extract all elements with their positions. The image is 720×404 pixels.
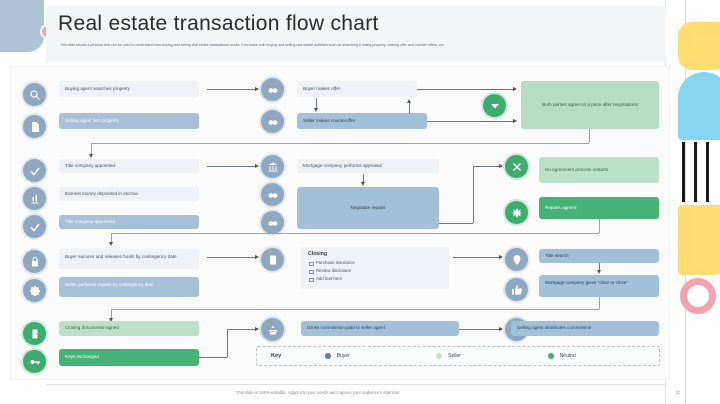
key-item-neutral: Neutral (548, 353, 659, 359)
box-both-parties-agree[interactable]: Both parties agree on a price after nego… (521, 81, 659, 129)
handshake-icon (261, 183, 284, 206)
decor-bars (676, 142, 720, 202)
arrowhead-r3-a (255, 255, 259, 259)
box-repairs-agreed[interactable]: Repairs agreed (539, 197, 659, 219)
decor-yellow-shape-bottom (678, 205, 720, 275)
box-selling-agent-distributes[interactable]: Selling agent distributes commission (511, 321, 659, 336)
search-icon (23, 83, 46, 106)
key-text-seller: Seller (448, 353, 461, 359)
connector-r2-b2 (473, 166, 474, 223)
box-clear-to-close[interactable]: Mortgage company gives "clear to close" (539, 275, 659, 297)
box-keys-exchanged[interactable]: Keys exchanged (59, 349, 199, 366)
connector-wrap3-v1 (599, 297, 600, 309)
page-subtitle: This slide shows a process that can be u… (60, 42, 640, 48)
door-icon (23, 322, 46, 345)
key-item-seller: Seller (436, 353, 547, 359)
connector-wrap1-v1 (589, 129, 590, 143)
connector-r1-up (409, 103, 410, 114)
connector-r3-b (453, 257, 499, 258)
box-gross-commission-paid[interactable]: Gross commission paid to seller agent (301, 321, 459, 336)
escrow-icon (23, 187, 46, 210)
connector-wrap2-h (111, 233, 599, 234)
box-title-company-appointed-2[interactable]: Title company appointed (59, 215, 199, 229)
arrowhead-wrap1 (89, 154, 93, 158)
key-item-buyer: Buyer (325, 353, 436, 359)
arrowhead-r2-b (499, 164, 503, 168)
key-label: Key (271, 353, 325, 359)
thumbs-up-icon (505, 278, 528, 301)
box-no-agreement-restarts[interactable]: No agreement process restarts (539, 157, 659, 183)
box-seller-counteroffer[interactable]: Seller makes counteroffer (297, 113, 427, 129)
document-icon (23, 115, 46, 138)
arrowhead-r1-a (255, 87, 259, 91)
handshake-icon (261, 110, 284, 133)
connector-r2-b3 (473, 166, 499, 167)
decor-yellow-shape-top (678, 22, 720, 70)
connector-r3-a (207, 257, 255, 258)
arrowhead-r3-b (499, 255, 503, 259)
check-icon (23, 215, 46, 238)
arrowhead-r3-down (597, 270, 601, 274)
connector-r1-b (417, 89, 513, 90)
connector-r2-a (207, 166, 255, 167)
connector-wrap1-h (91, 143, 589, 144)
key-dot-buyer (325, 353, 331, 359)
connector-r1-c (427, 121, 513, 122)
handshake-icon (261, 78, 284, 101)
list-item[interactable]: Purchase insurance (308, 259, 442, 267)
key-text-neutral: Neutral (560, 353, 576, 359)
box-buying-agent-searches[interactable]: Buying agent searches property (59, 81, 199, 97)
arrowhead-r4-b (499, 327, 503, 331)
box-title-company-appointed-1[interactable]: Title company appointed (59, 159, 199, 173)
arrowhead-r1-up (407, 99, 411, 103)
arrowhead-r1-down (314, 108, 318, 112)
arrowhead-r1-c (513, 119, 517, 123)
connector-r4-b (459, 329, 499, 330)
key-dot-neutral (548, 353, 554, 359)
connector-r2-b1 (439, 223, 473, 224)
key-text-buyer: Buyer (337, 353, 350, 359)
connector-wrap3-h (111, 309, 599, 310)
connector-r4-a1 (199, 357, 227, 358)
gear-icon (23, 279, 46, 302)
cross-icon (505, 155, 528, 178)
lock-icon (23, 250, 46, 273)
footer-divider (46, 384, 666, 385)
check-icon (23, 159, 46, 182)
bank-icon (261, 155, 284, 178)
list-item[interactable]: Review disclosure (308, 267, 442, 275)
key-dot-seller (436, 353, 442, 359)
decor-pink-ring (680, 278, 716, 314)
repair-icon (505, 201, 528, 224)
box-buyer-secures-funds[interactable]: Buyer secures and releases funds by cont… (59, 249, 199, 269)
connector-r4-a2 (227, 329, 228, 357)
slide-header: Real estate transaction flow chart This … (46, 6, 666, 62)
arrowhead-r4-a (255, 327, 259, 331)
footer-note: This slide is 100% editable. Adapt it to… (236, 390, 400, 395)
connector-r1-a (207, 89, 255, 90)
slide-root: Real estate transaction flow chart This … (0, 0, 720, 404)
page-number: 12 (675, 390, 680, 395)
connector-wrap2-v1 (599, 219, 600, 233)
agreement-icon (483, 94, 506, 117)
arrowhead-wrap2 (109, 242, 113, 246)
decor-blue-shape (678, 72, 720, 140)
arrowhead-r2-down (361, 182, 365, 186)
box-earnest-money-escrow[interactable]: Earnest money deposited in escrow (59, 187, 199, 201)
closing-title: Closing (308, 251, 442, 257)
list-item[interactable]: Add text here (308, 275, 442, 283)
box-mortgage-appraisal[interactable]: Mortgage company performs appraisal (297, 159, 439, 173)
box-negotiate-repairs[interactable]: Negotiate repairs (297, 187, 439, 229)
arrowhead-r1-b (513, 87, 517, 91)
connector-r4-a3 (227, 329, 255, 330)
box-closing[interactable]: Closing Purchase insurance Review disclo… (301, 247, 449, 289)
box-title-search[interactable]: Title search (539, 249, 659, 263)
box-seller-performs-repairs[interactable]: Seller performs repairs by contingency d… (59, 277, 199, 297)
money-hand-icon (261, 318, 284, 341)
building-icon (261, 248, 284, 271)
arrowhead-r2-a (255, 164, 259, 168)
box-closing-documents-signed[interactable]: Closing documents signed (59, 321, 199, 336)
key-icon (23, 350, 46, 373)
page-title: Real estate transaction flow chart (58, 12, 379, 36)
box-selling-agent-lists[interactable]: Selling agent lists property (59, 113, 199, 129)
handshake-icon (261, 211, 284, 234)
location-pin-icon (505, 248, 528, 271)
flowchart-canvas: Buying agent searches property Selling a… (10, 66, 670, 380)
key-legend: Key Buyer Seller Neutral (256, 346, 660, 366)
box-buyer-makes-offer[interactable]: Buyer makes offer (297, 81, 417, 97)
closing-checklist: Purchase insurance Review disclosure Add… (308, 259, 442, 283)
decor-left-blob (0, 0, 44, 52)
